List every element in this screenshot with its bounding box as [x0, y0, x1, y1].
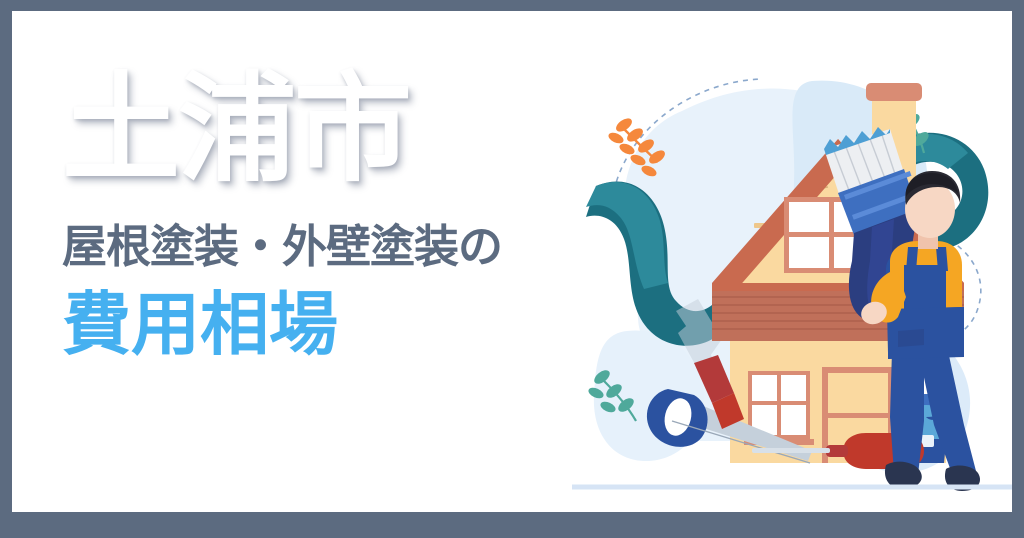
text-block: 土浦市 屋根塗装・外壁塗装の 費用相場 — [62, 61, 622, 366]
banner-canvas: 土浦市 屋根塗装・外壁塗装の 費用相場 — [12, 11, 1012, 512]
banner-container: 土浦市 屋根塗装・外壁塗装の 費用相場 — [0, 0, 1024, 538]
subtitle: 屋根塗装・外壁塗装の — [62, 220, 622, 274]
house-painting-illustration — [572, 21, 1012, 512]
page-title: 土浦市 — [62, 61, 622, 200]
price-headline: 費用相場 — [62, 284, 622, 365]
